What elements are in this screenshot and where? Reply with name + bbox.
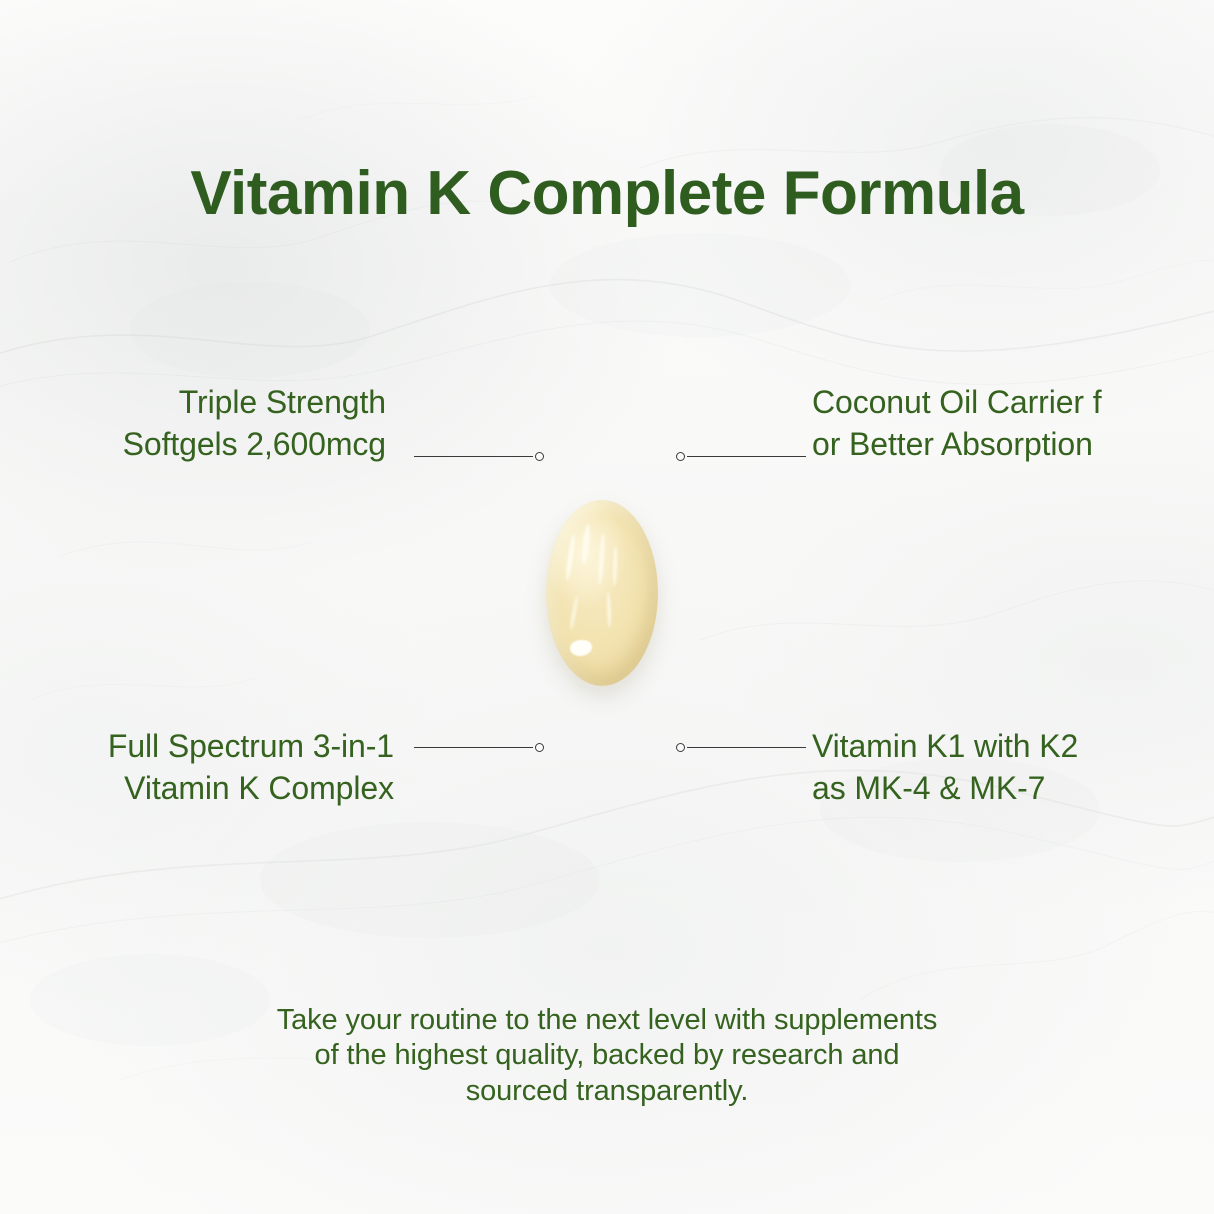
- product-infographic: Vitamin K Complete Formula Triple Streng…: [0, 0, 1214, 1214]
- feature-line: Triple Strength: [0, 381, 386, 423]
- gloss-highlight: [612, 546, 617, 586]
- feature-line: Vitamin K Complex: [0, 767, 394, 809]
- gloss-highlight: [569, 596, 579, 630]
- feature-label-top-right: Coconut Oil Carrier f or Better Absorpti…: [812, 381, 1212, 465]
- feature-label-bottom-right: Vitamin K1 with K2 as MK-4 & MK-7: [812, 725, 1212, 809]
- softgel-capsule-image: [546, 500, 658, 686]
- tagline-line: sourced transparently.: [0, 1074, 1214, 1109]
- connector-bottom-left: [414, 741, 544, 755]
- gloss-highlight: [570, 640, 592, 656]
- gloss-highlight: [581, 524, 591, 564]
- page-title: Vitamin K Complete Formula: [0, 160, 1214, 228]
- connector-bottom-right: [676, 741, 806, 755]
- feature-label-bottom-left: Full Spectrum 3-in-1 Vitamin K Complex: [0, 725, 394, 809]
- connector-dot-icon: [676, 452, 685, 461]
- gloss-highlight: [597, 533, 606, 585]
- connector-line: [414, 747, 533, 748]
- feature-line: or Better Absorption: [812, 423, 1212, 465]
- connector-dot-icon: [535, 743, 544, 752]
- connector-dot-icon: [535, 452, 544, 461]
- connector-top-right: [676, 450, 806, 464]
- feature-line: Full Spectrum 3-in-1: [0, 725, 394, 767]
- connector-line: [687, 456, 806, 457]
- feature-label-top-left: Triple Strength Softgels 2,600mcg: [0, 381, 386, 465]
- connector-line: [687, 747, 806, 748]
- tagline: Take your routine to the next level with…: [0, 1003, 1214, 1109]
- gloss-highlight: [606, 592, 611, 628]
- feature-line: as MK-4 & MK-7: [812, 767, 1212, 809]
- connector-dot-icon: [676, 743, 685, 752]
- gloss-highlight: [565, 534, 576, 580]
- connector-line: [414, 456, 533, 457]
- feature-line: Coconut Oil Carrier f: [812, 381, 1212, 423]
- feature-line: Softgels 2,600mcg: [0, 423, 386, 465]
- tagline-line: Take your routine to the next level with…: [0, 1003, 1214, 1038]
- tagline-line: of the highest quality, backed by resear…: [0, 1038, 1214, 1073]
- connector-top-left: [414, 450, 544, 464]
- feature-line: Vitamin K1 with K2: [812, 725, 1212, 767]
- softgel-body: [546, 500, 658, 686]
